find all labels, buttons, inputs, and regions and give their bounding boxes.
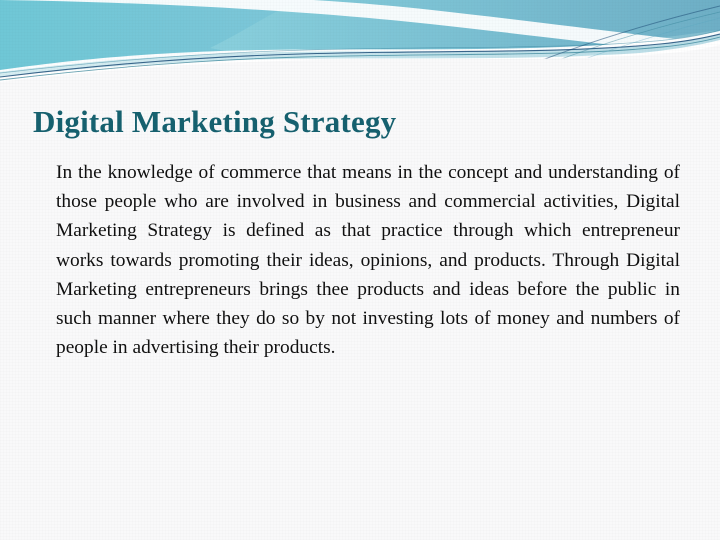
body-paragraph: In the knowledge of commerce that means … (36, 158, 680, 362)
header-wave-graphic (0, 0, 720, 90)
slide-canvas: Digital Marketing Strategy In the knowle… (0, 0, 720, 540)
page-title: Digital Marketing Strategy (33, 104, 396, 140)
body-paragraph-text: In the knowledge of commerce that means … (36, 158, 680, 362)
